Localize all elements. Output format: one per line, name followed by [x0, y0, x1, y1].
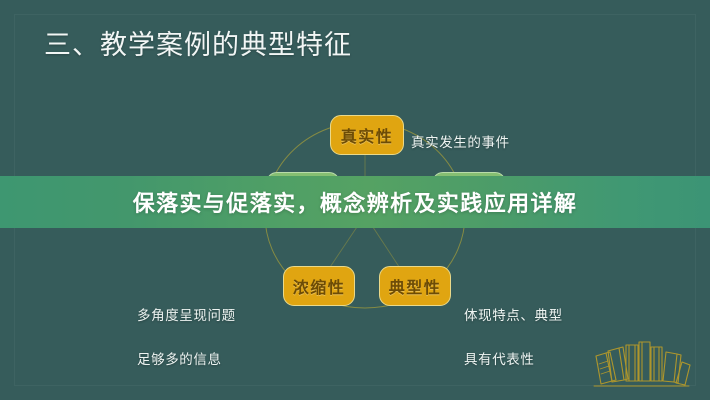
diagram-node-label: 典型性 — [389, 274, 442, 298]
diagram-node-label: 真实性 — [341, 123, 394, 147]
caption-line: 具有代表性 — [464, 349, 563, 371]
books-icon — [590, 334, 694, 392]
diagram-caption-typicality: 体现特点、典型 具有代表性 — [464, 283, 563, 392]
diagram-node-condensation[interactable]: 浓缩性 — [283, 266, 355, 306]
diagram-node-label: 浓缩性 — [293, 274, 346, 298]
diagram-caption-condensation: 多角度呈现问题 足够多的信息 — [137, 283, 236, 392]
caption-line: 多角度呈现问题 — [137, 305, 236, 327]
headline-text: 保落实与促落实，概念辨析及实践应用详解 — [133, 186, 578, 218]
caption-line: 足够多的信息 — [137, 349, 236, 371]
headline-banner: 保落实与促落实，概念辨析及实践应用详解 — [0, 176, 710, 228]
caption-line: 体现特点、典型 — [464, 305, 563, 327]
caption-line: 真实发生的事件 — [411, 132, 524, 154]
diagram-node-typicality[interactable]: 典型性 — [379, 266, 451, 306]
presentation-slide: 三、教学案例的典型特征 真实性 发性 浓缩性 — [0, 0, 710, 400]
diagram-node-authenticity[interactable]: 真实性 — [330, 115, 404, 155]
